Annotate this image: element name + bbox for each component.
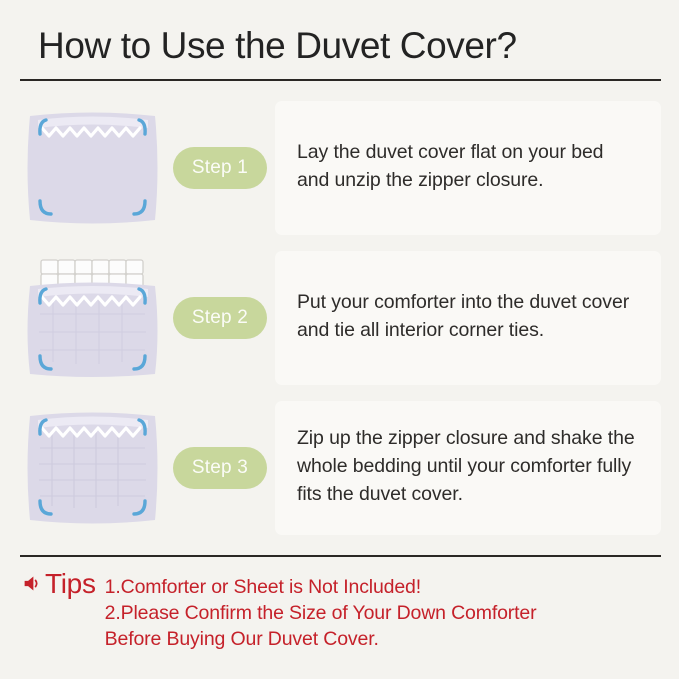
duvet-cover-open-icon xyxy=(20,106,165,230)
step-badge: Step 2 xyxy=(173,297,267,339)
step-text-panel: Zip up the zipper closure and shake the … xyxy=(275,401,661,535)
header: How to Use the Duvet Cover? xyxy=(0,0,679,66)
step-badge-cell: Step 1 xyxy=(165,147,275,189)
infographic-page: How to Use the Duvet Cover? Step 1 xyxy=(0,0,679,679)
step-row: Step 3 Zip up the zipper closure and sha… xyxy=(0,393,679,543)
step-badge: Step 3 xyxy=(173,447,267,489)
duvet-cover-inserting-comforter-icon xyxy=(20,256,165,380)
step-badge-cell: Step 2 xyxy=(165,297,275,339)
step-badge-cell: Step 3 xyxy=(165,447,275,489)
step-text: Zip up the zipper closure and shake the … xyxy=(297,425,639,508)
tips-section: Tips 1.Comforter or Sheet is Not Include… xyxy=(0,555,679,652)
step-text-panel: Lay the duvet cover flat on your bed and… xyxy=(275,101,661,235)
speaker-icon xyxy=(22,573,43,594)
step-row: Step 2 Put your comforter into the duvet… xyxy=(0,243,679,393)
step-text: Lay the duvet cover flat on your bed and… xyxy=(297,139,639,194)
page-title: How to Use the Duvet Cover? xyxy=(38,26,655,66)
step-text: Put your comforter into the duvet cover … xyxy=(297,289,639,344)
steps-list: Step 1 Lay the duvet cover flat on your … xyxy=(0,81,679,543)
tips-line: 2.Please Confirm the Size of Your Down C… xyxy=(105,600,537,626)
step-row: Step 1 Lay the duvet cover flat on your … xyxy=(0,93,679,243)
step-badge: Step 1 xyxy=(173,147,267,189)
duvet-cover-filled-icon xyxy=(20,406,165,530)
tips-lines: 1.Comforter or Sheet is Not Included! 2.… xyxy=(105,569,537,652)
tips-line: 1.Comforter or Sheet is Not Included! xyxy=(105,574,537,600)
tips-label: Tips xyxy=(45,570,96,598)
tips-line: Before Buying Our Duvet Cover. xyxy=(105,626,537,652)
step-text-panel: Put your comforter into the duvet cover … xyxy=(275,251,661,385)
tips-heading: Tips xyxy=(22,569,96,598)
